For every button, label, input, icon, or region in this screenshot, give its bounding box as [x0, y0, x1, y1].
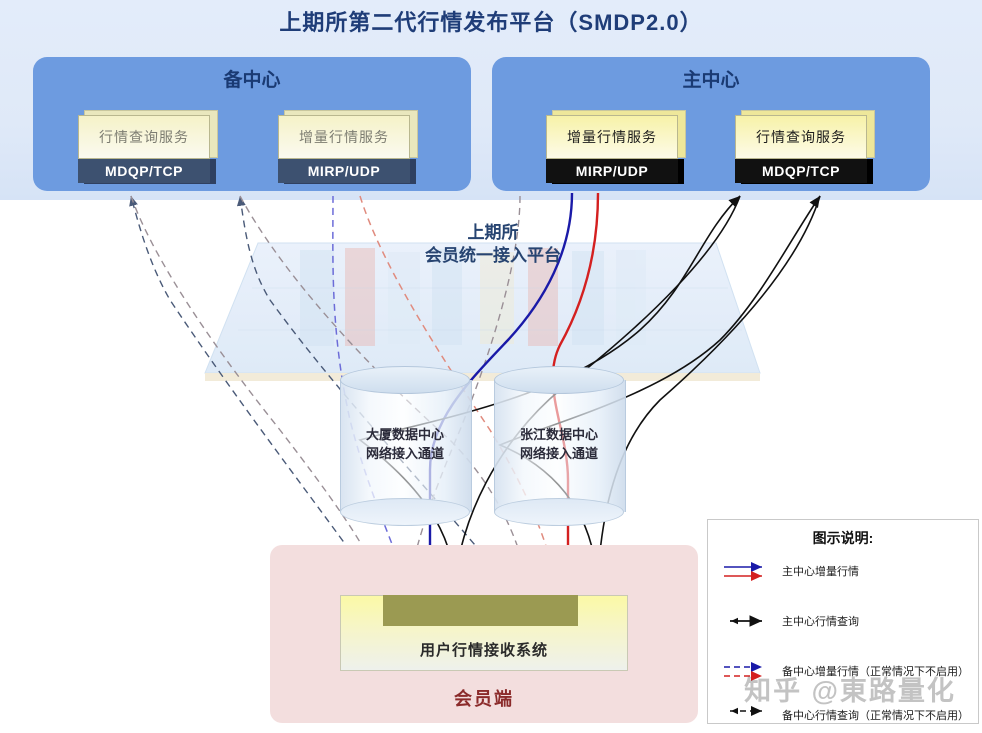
channel-line1: 大厦数据中心 [340, 426, 470, 445]
legend-marker-black-dashed-bidirectional [722, 702, 774, 728]
legend-item-backup-query: 备中心行情查询（正常情况下不启用） [722, 702, 969, 728]
channel-cylinder-dasha: 大厦数据中心 网络接入通道 [340, 366, 470, 526]
backup-service-mirp[interactable]: 增量行情服务 MIRP/UDP [278, 115, 416, 183]
channel-line2: 网络接入通道 [340, 445, 470, 464]
legend-label-backup-incremental: 备中心增量行情（正常情况下不启用） [782, 663, 969, 679]
main-service-mdqp[interactable]: 行情查询服务 MDQP/TCP [735, 115, 873, 183]
legend-item-main-query: 主中心行情查询 [722, 608, 859, 634]
main-service-mdqp-label: 行情查询服务 [735, 115, 867, 159]
legend-marker-double-dashed-blue-red [722, 658, 774, 684]
channel-cylinder-zhangjiang-label: 张江数据中心 网络接入通道 [494, 426, 624, 464]
legend-box: 图示说明: 主中心增量行情 主中心行情查询 [707, 519, 979, 724]
legend-title: 图示说明: [708, 528, 978, 548]
cylinder-bottom [340, 498, 470, 526]
backup-service-mdqp-label: 行情查询服务 [78, 115, 210, 159]
page-title: 上期所第二代行情发布平台（SMDP2.0） [0, 0, 982, 42]
legend-label-main-query: 主中心行情查询 [782, 613, 859, 629]
legend-marker-double-solid-blue-red [722, 558, 774, 584]
main-service-mirp-label: 增量行情服务 [546, 115, 678, 159]
diagram-canvas: 上期所第二代行情发布平台（SMDP2.0） 备中心 行情查询服务 MDQP/TC… [0, 0, 982, 731]
channel-cylinder-dasha-label: 大厦数据中心 网络接入通道 [340, 426, 470, 464]
legend-item-backup-incremental: 备中心增量行情（正常情况下不启用） [722, 658, 969, 684]
member-panel-title: 会员端 [270, 685, 698, 711]
channel-cylinder-zhangjiang: 张江数据中心 网络接入通道 [494, 366, 624, 526]
channel-line2: 网络接入通道 [494, 445, 624, 464]
legend-label-main-incremental: 主中心增量行情 [782, 563, 859, 579]
access-platform-line1: 上期所 [383, 222, 603, 245]
cylinder-top [340, 366, 470, 394]
user-receiver-box[interactable]: 用户行情接收系统 [340, 595, 628, 671]
access-platform-line2: 会员统一接入平台 [383, 245, 603, 268]
receiver-highlight-bar [383, 595, 578, 626]
access-platform-label: 上期所 会员统一接入平台 [383, 222, 603, 268]
backup-service-mirp-protocol: MIRP/UDP [278, 159, 410, 183]
main-service-mirp-protocol: MIRP/UDP [546, 159, 678, 183]
backup-service-mdqp[interactable]: 行情查询服务 MDQP/TCP [78, 115, 216, 183]
cylinder-top [494, 366, 624, 394]
main-service-mirp[interactable]: 增量行情服务 MIRP/UDP [546, 115, 684, 183]
legend-label-backup-query: 备中心行情查询（正常情况下不启用） [782, 707, 969, 723]
member-panel: 用户行情接收系统 会员端 [270, 545, 698, 723]
backup-service-mirp-label: 增量行情服务 [278, 115, 410, 159]
legend-marker-black-bidirectional [722, 608, 774, 634]
user-receiver-label: 用户行情接收系统 [341, 639, 627, 660]
cylinder-bottom [494, 498, 624, 526]
main-service-mdqp-protocol: MDQP/TCP [735, 159, 867, 183]
channel-line1: 张江数据中心 [494, 426, 624, 445]
backup-service-mdqp-protocol: MDQP/TCP [78, 159, 210, 183]
legend-item-main-incremental: 主中心增量行情 [722, 558, 859, 584]
